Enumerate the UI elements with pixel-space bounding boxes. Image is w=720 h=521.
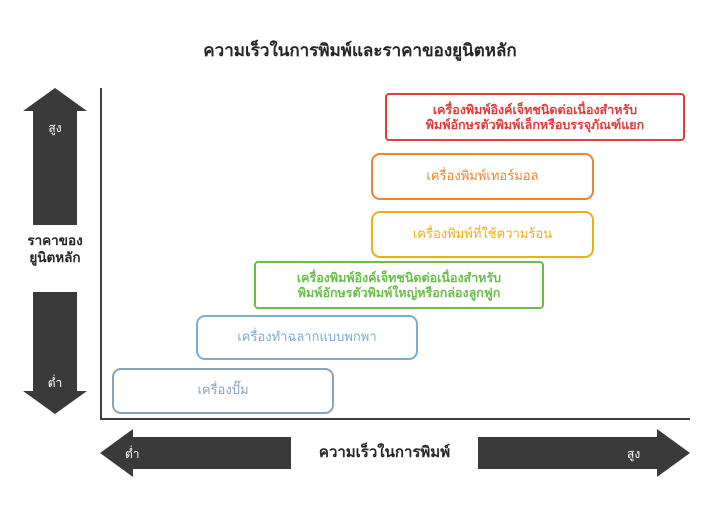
chart-title: ความเร็วในการพิมพ์และราคาของยูนิตหลัก [0,37,720,64]
y-axis-title-line2: ยูนิตหลัก [0,250,110,267]
category-box-label-line2: พิมพ์อักษรตัวพิมพ์ใหญ่หรือกล่องลูกฟูก [297,285,501,300]
category-box-label-line1: เครื่องพิมพ์อิงค์เจ็ทชนิดต่อเนื่องสำหรับ [426,102,644,117]
category-box-stamp-machine[interactable]: เครื่องปั๊ม [112,368,334,414]
x-axis-line [100,418,690,420]
category-box-label-line2: พิมพ์อักษรตัวพิมพ์เล็กหรือบรรจุภัณฑ์แยก [426,117,644,132]
category-box-label-line1: เครื่องปั๊ม [197,383,248,399]
category-box-cij-large-character[interactable]: เครื่องพิมพ์อิงค์เจ็ทชนิดต่อเนื่องสำหรับ… [254,261,544,309]
category-box-label-line1: เครื่องพิมพ์ที่ใช้ความร้อน [413,227,552,243]
category-box-label: เครื่องปั๊ม [197,383,248,399]
category-box-label-line1: เครื่องทำฉลากแบบพกพา [237,330,376,346]
category-box-label: เครื่องทำฉลากแบบพกพา [237,330,376,346]
category-box-label: เครื่องพิมพ์อิงค์เจ็ทชนิดต่อเนื่องสำหรับ… [426,102,644,133]
category-box-label: เครื่องพิมพ์ที่ใช้ความร้อน [413,227,552,243]
y-axis-title: ราคาของ ยูนิตหลัก [0,233,110,268]
chart-canvas: ความเร็วในการพิมพ์และราคาของยูนิตหลัก สู… [0,0,720,521]
category-box-thermal-printer[interactable]: เครื่องพิมพ์เทอร์มอล [371,153,594,200]
category-box-portable-label-maker[interactable]: เครื่องทำฉลากแบบพกพา [196,315,418,360]
price-axis-high-label: สูง [33,119,77,138]
speed-axis-arrowhead-right [657,429,690,477]
category-box-label: เครื่องพิมพ์เทอร์มอล [426,169,538,185]
category-box-label-line1: เครื่องพิมพ์เทอร์มอล [426,169,538,185]
category-box-heat-printer[interactable]: เครื่องพิมพ์ที่ใช้ความร้อน [371,211,594,258]
category-box-cij-small-character[interactable]: เครื่องพิมพ์อิงค์เจ็ทชนิดต่อเนื่องสำหรับ… [385,93,685,141]
category-box-label: เครื่องพิมพ์อิงค์เจ็ทชนิดต่อเนื่องสำหรับ… [297,270,501,301]
y-axis-title-line1: ราคาของ [0,233,110,250]
x-axis-title: ความเร็วในการพิมพ์ [291,435,478,469]
speed-axis-high-label: สูง [627,445,640,464]
speed-axis-low-label: ต่ำ [125,445,140,464]
price-axis-low-label: ต่ำ [33,374,77,393]
category-box-label-line1: เครื่องพิมพ์อิงค์เจ็ทชนิดต่อเนื่องสำหรับ [297,270,501,285]
